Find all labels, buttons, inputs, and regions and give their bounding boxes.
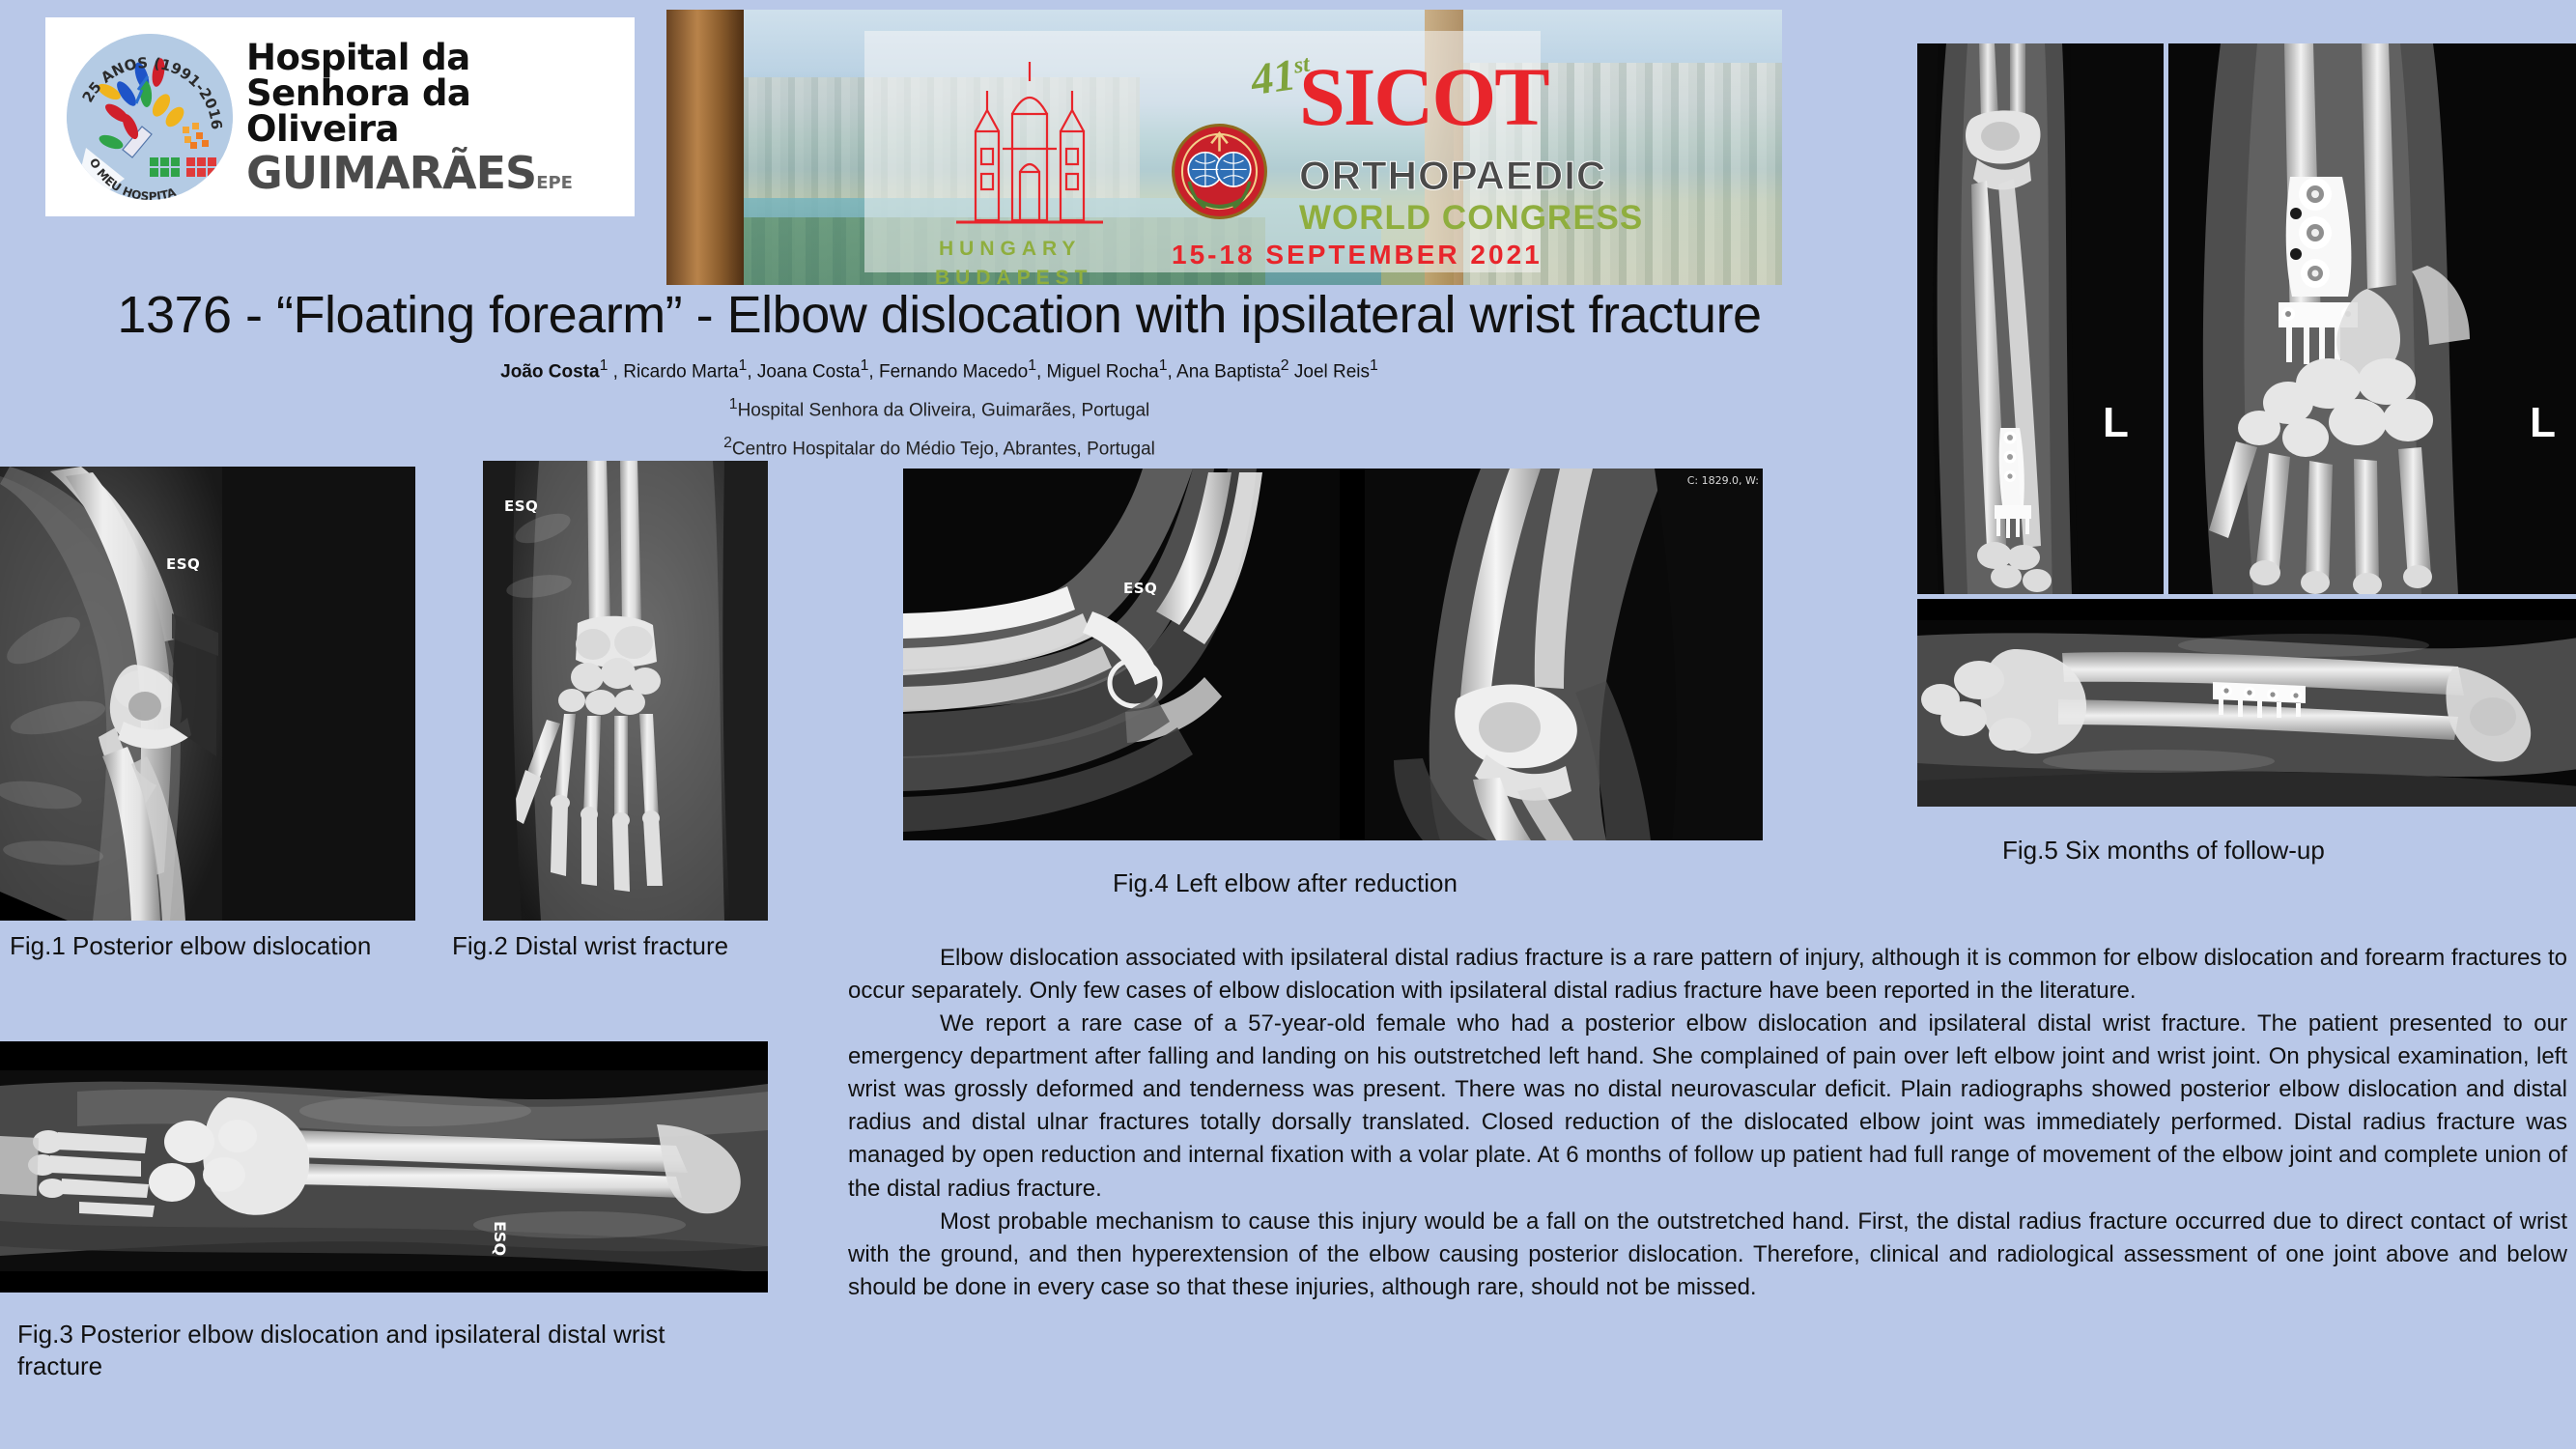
poster-affiliation-1: 1Hospital Senhora da Oliveira, Guimarães… [0,396,1879,421]
abstract-paragraph-1: Elbow dislocation associated with ipsila… [848,942,2567,1008]
figure-1-caption: Fig.1 Posterior elbow dislocation [10,930,415,962]
banner-sicot-acronym: SICOT [1299,60,1548,134]
parliament-building-icon [927,56,1130,230]
figure-5-side-overlay-a: L [2103,399,2129,447]
figure-2-image: ESQ [483,461,768,921]
banner-country-label: HUNGARY [939,238,1081,261]
figure-3-side-overlay: ESQ [491,1221,509,1256]
figure-4-side-overlay: ESQ [1123,580,1157,597]
figure-4-image: ESQ C: 1829.0, W: [903,469,1763,840]
banner-congress-dates: 15-18 SEPTEMBER 2021 [1172,240,1543,270]
sicot-emblem-icon [1159,111,1280,232]
poster-title: 1376 - “Floating forearm” - Elbow disloc… [0,285,1879,345]
figure-2-caption: Fig.2 Distal wrist fracture [452,930,780,962]
figure-3-caption: Fig.3 Posterior elbow dislocation and ip… [17,1319,751,1381]
figure-5-image-panel-c [1917,599,2576,807]
figure-1-side-overlay: ESQ [166,555,200,573]
figure-5-side-overlay-b: L [2530,399,2556,447]
banner-subtitle-orthopaedic: ORTHOPAEDIC [1299,153,1606,199]
figure-2-side-overlay: ESQ [504,497,538,515]
banner-subtitle-world-congress: WORLD CONGRESS [1299,199,1643,238]
figure-5-caption: Fig.5 Six months of follow-up [2002,835,2389,867]
banner-city-label: BUDAPEST [935,267,1093,285]
figure-5-image-panel-b: L [2168,43,2576,594]
poster-affiliation-2: 2Centro Hospitalar do Médio Tejo, Abrant… [0,435,1879,460]
hospital-epe-suffix: EPE [536,173,573,193]
hospital-logo: 25 ANOS (1991-2016) O MEU HOSPITAL Hospi… [45,17,635,216]
abstract-text-column: Elbow dislocation associated with ipsila… [848,942,2567,1304]
hospital-emblem-icon: 25 ANOS (1991-2016) O MEU HOSPITAL [67,34,233,200]
figure-4-caption: Fig.4 Left elbow after reduction [1113,867,1518,899]
abstract-paragraph-3: Most probable mechanism to cause this in… [848,1206,2567,1304]
abstract-paragraph-2: We report a rare case of a 57-year-old f… [848,1008,2567,1205]
hospital-name-line1: Hospital da [246,40,635,75]
figure-5-image-panel-a: L [1917,43,2164,594]
sicot-congress-banner: HUNGARY BUDAPEST 41st SICOT ORTHOPAEDIC … [666,10,1782,285]
hospital-city: GUIMARÃESEPE [246,151,635,195]
hospital-name-line2: Senhora da Oliveira [246,75,635,147]
conference-poster: 25 ANOS (1991-2016) O MEU HOSPITAL Hospi… [0,0,2576,1449]
banner-stone-pillar [666,10,744,285]
figure-4-dicom-overlay: C: 1829.0, W: [1687,474,1759,487]
figure-1-image: ESQ [0,467,415,921]
figure-3-image: ESQ [0,1041,768,1293]
poster-authors: João Costa1 , Ricardo Marta1, Joana Cost… [0,357,1879,383]
hospital-name-block: Hospital da Senhora da Oliveira GUIMARÃE… [246,40,635,195]
